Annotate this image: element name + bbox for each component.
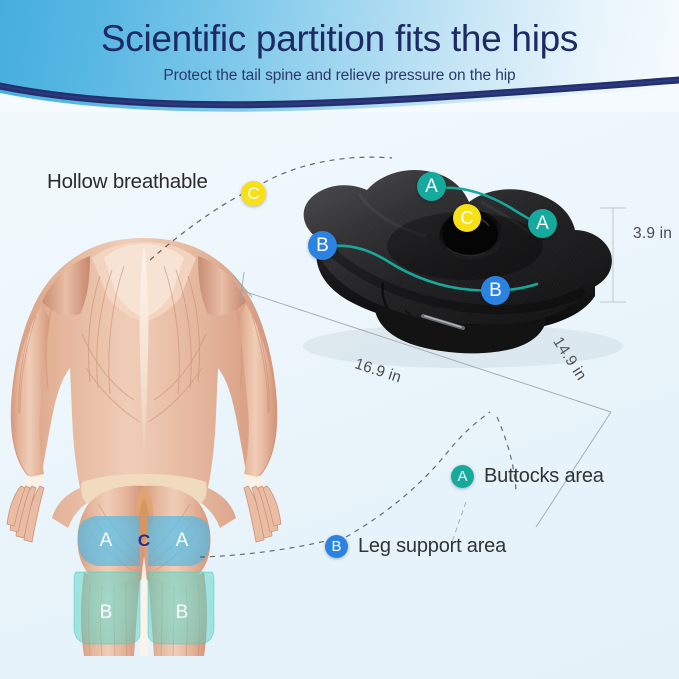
legend-badge-b[interactable]: B bbox=[325, 535, 348, 558]
badge-c-callout[interactable]: C bbox=[241, 181, 266, 206]
legend-label-leg-support-area: Leg support area bbox=[358, 535, 506, 558]
header-banner: Scientific partition fits the hips Prote… bbox=[0, 0, 679, 112]
badge-c-cushion[interactable]: C bbox=[453, 204, 481, 232]
badge-b-cushion-left[interactable]: B bbox=[308, 231, 337, 260]
hollow-breathable-label: Hollow breathable bbox=[47, 170, 208, 194]
dashed-guide-curve bbox=[0, 112, 679, 679]
infographic-root: Scientific partition fits the hips Prote… bbox=[0, 0, 679, 679]
page-title: Scientific partition fits the hips bbox=[0, 18, 679, 60]
badge-a-cushion-right[interactable]: A bbox=[528, 209, 557, 238]
legend-badge-a[interactable]: A bbox=[451, 465, 474, 488]
badge-b-cushion-right[interactable]: B bbox=[481, 276, 510, 305]
page-subtitle: Protect the tail spine and relieve press… bbox=[0, 67, 679, 85]
badge-a-cushion-left[interactable]: A bbox=[417, 172, 446, 201]
legend-label-buttocks-area: Buttocks area bbox=[484, 465, 604, 488]
